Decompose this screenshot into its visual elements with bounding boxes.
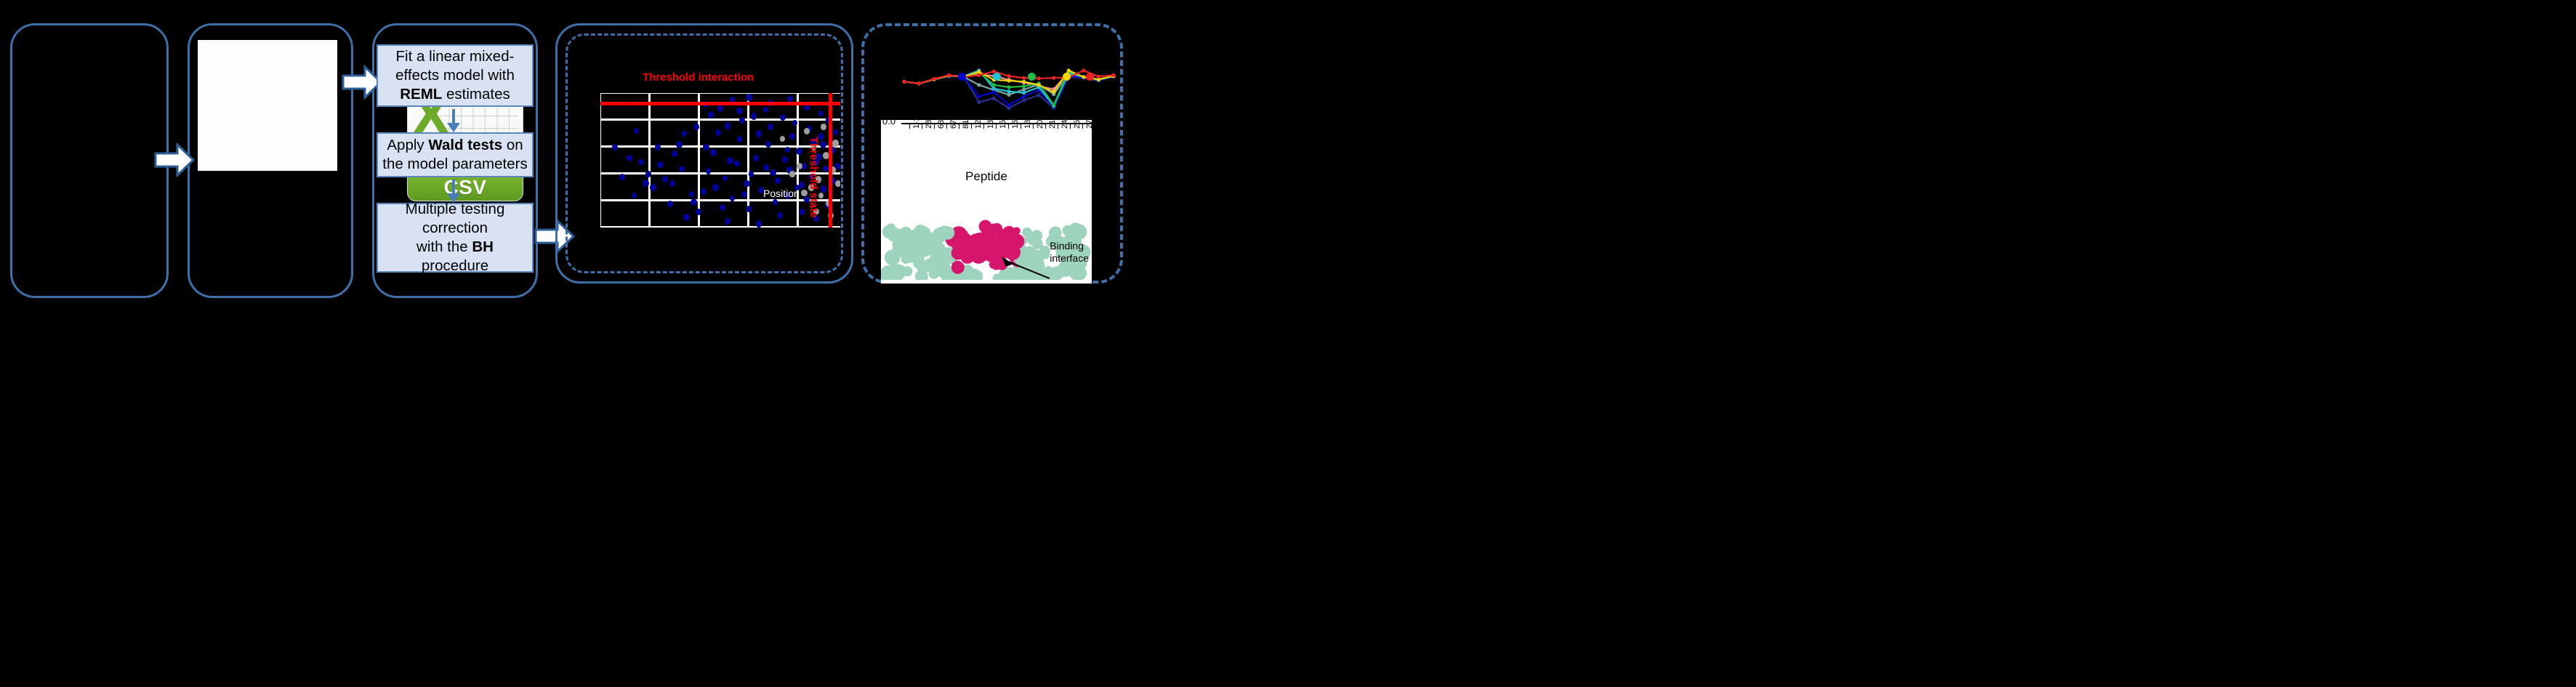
- receptor-surface-blob: [938, 262, 945, 269]
- flow-box-multiple-testing[interactable]: Multiple testing correction with the BH …: [377, 203, 534, 273]
- line-marker: [992, 90, 996, 94]
- peptide-surface-blob: [951, 246, 965, 260]
- receptor-surface-blob: [933, 228, 948, 243]
- binding-line2: interface: [1050, 252, 1089, 264]
- peptide-tick: [1033, 124, 1034, 129]
- line-marker: [917, 81, 921, 85]
- scatter-point: [632, 193, 637, 198]
- line-marker: [977, 100, 981, 104]
- peptide-axis-title: Peptide: [881, 169, 1092, 184]
- line-marker: [1022, 91, 1026, 95]
- legend-dot: [1063, 73, 1071, 81]
- line-marker: [1007, 89, 1010, 93]
- receptor-surface-blob: [1049, 226, 1062, 239]
- peptide-tick-label: 67-75: [949, 120, 958, 129]
- scatter-point: [627, 155, 632, 161]
- fb3-line3-pre: with the: [416, 238, 472, 255]
- peptide-surface-blob: [957, 233, 968, 244]
- scatter-point: [821, 185, 826, 192]
- arrow-box2-to-box3: [452, 180, 455, 194]
- receptor-surface-blob: [1022, 246, 1038, 262]
- scatter-point: [638, 159, 643, 165]
- scatter-point: [725, 218, 730, 225]
- peptide-tick: [922, 124, 922, 129]
- line-marker: [1082, 75, 1085, 79]
- scatter-point: [712, 184, 719, 191]
- line-marker: [1022, 84, 1026, 88]
- input-panel: [10, 23, 169, 298]
- peptide-tick: [1045, 124, 1046, 129]
- line-marker: [1037, 76, 1041, 80]
- line-marker: [1007, 93, 1010, 97]
- peptide-tick-label: 81-101: [962, 120, 970, 129]
- fb2-line2: the model parameters: [382, 156, 527, 172]
- scatter-point: [708, 111, 714, 118]
- line-marker: [1007, 106, 1010, 110]
- scatter-point: [744, 180, 750, 188]
- line-marker: [1022, 95, 1026, 98]
- scatter-plot: [600, 93, 840, 228]
- legend-dot: [958, 73, 966, 81]
- fb2-wald: Wald tests: [428, 137, 502, 153]
- scatter-point: [683, 214, 690, 221]
- scatter-point: [785, 147, 790, 153]
- threshold-interaction-line: [600, 102, 840, 105]
- scatter-point: [693, 124, 699, 130]
- scatter-point: [657, 161, 663, 168]
- scatter-point: [782, 156, 788, 163]
- threshold-interaction-label: Threshold interaction: [643, 71, 754, 84]
- scatter-point: [792, 120, 797, 126]
- scatter-point: [763, 164, 769, 171]
- scatter-point: [667, 201, 673, 207]
- scatter-point: [756, 130, 762, 137]
- line-marker: [1007, 74, 1010, 78]
- fb3-line3-post: procedure: [422, 257, 488, 274]
- protein-structure-image: [881, 193, 1092, 280]
- fb2-on: on: [502, 137, 523, 153]
- flow-box-wald-tests[interactable]: Apply Wald tests on the model parameters: [377, 132, 534, 177]
- line-marker: [1052, 76, 1055, 80]
- scatter-point: [736, 108, 742, 114]
- peptide-tick-label: 277-284: [1085, 120, 1092, 129]
- peptide-surface-blob: [1013, 227, 1021, 234]
- peptide-surface-blob: [951, 261, 965, 274]
- peptide-tick: [959, 124, 959, 129]
- fb1-reml: REML: [400, 86, 442, 103]
- line-marker: [1082, 68, 1085, 72]
- line-marker: [1007, 79, 1010, 82]
- scatter-point: [804, 128, 810, 134]
- line-marker: [947, 73, 951, 77]
- peptide-tick: [983, 124, 984, 129]
- receptor-surface-blob: [903, 266, 913, 276]
- arrow-input-to-csv: [154, 142, 195, 178]
- peptide-surface-blob: [1009, 234, 1024, 249]
- peptide-tick-label: 122-129: [974, 120, 983, 129]
- receptor-surface-blob: [1028, 236, 1037, 245]
- scatter-point: [650, 184, 656, 191]
- peptide-tick: [1008, 124, 1009, 129]
- peptide-tick-label: 167-180: [1011, 120, 1020, 129]
- line-marker: [1037, 83, 1041, 87]
- binding-line1: Binding: [1050, 240, 1084, 252]
- scatter-point: [823, 166, 828, 172]
- scatter-point: [835, 163, 840, 169]
- peptide-tick-label: 200-214: [1036, 120, 1045, 129]
- scatter-point: [821, 124, 826, 130]
- line-marker: [1007, 103, 1010, 107]
- scatter-point: [730, 196, 735, 201]
- peptide-tick: [1021, 124, 1021, 129]
- peptide-tick-label: 184-199: [1023, 120, 1032, 129]
- fb3-line1: Multiple testing: [406, 201, 505, 217]
- scatter-point: [619, 174, 625, 180]
- scatter-point: [801, 190, 807, 196]
- peptide-tick: [971, 124, 972, 129]
- scatter-point: [734, 161, 739, 166]
- line-marker: [1037, 93, 1041, 97]
- scatter-point: [787, 96, 793, 103]
- receptor-surface-blob: [1045, 266, 1052, 273]
- peptide-tick: [934, 124, 935, 129]
- peptide-tick-label: 135-144: [986, 120, 995, 129]
- line-marker: [1022, 98, 1026, 102]
- scatter-point: [701, 188, 707, 195]
- peptide-tick-label: 258-266: [1073, 120, 1082, 129]
- scatter-point: [799, 209, 804, 214]
- scatter-point: [725, 122, 731, 129]
- scatter-point: [751, 113, 757, 119]
- peptide-tick: [1070, 124, 1071, 129]
- line-marker: [1022, 76, 1026, 80]
- peptide-tick-label: 218-237: [1048, 120, 1057, 129]
- scatter-point: [756, 220, 762, 227]
- line-marker: [1052, 103, 1055, 107]
- scatter-point: [710, 149, 717, 156]
- peptide-surface-blob: [979, 220, 992, 233]
- line-marker: [1022, 88, 1026, 92]
- line-marker: [977, 83, 981, 87]
- legend-dot: [993, 73, 1001, 81]
- scatter-point: [754, 155, 760, 161]
- fb3-bh: BH: [472, 238, 494, 255]
- peptide-tick: [996, 124, 997, 129]
- peptide-tick-label: 241-257: [1060, 120, 1069, 129]
- fb1-line2: effects model with: [395, 67, 515, 84]
- line-marker: [902, 80, 906, 84]
- threshold-state-line: [829, 93, 832, 228]
- scatter-point: [789, 171, 794, 177]
- peptide-tick: [1082, 124, 1083, 129]
- line-marker: [1022, 80, 1026, 84]
- line-marker: [977, 70, 981, 73]
- scatter-point: [739, 117, 745, 124]
- fb1-line3-rest: estimates: [442, 86, 510, 103]
- peptide-tick-label: 158-166: [999, 120, 1007, 129]
- legend-dot: [1086, 73, 1094, 81]
- scatter-point: [703, 144, 709, 151]
- scatter-point: [741, 191, 747, 198]
- scatter-point: [727, 157, 733, 164]
- receptor-surface-blob: [975, 271, 983, 279]
- fb1-line1: Fit a linear mixed-: [396, 48, 515, 65]
- peptide-tick-label: 1-15: [912, 120, 921, 129]
- peptide-line-chart: [900, 60, 1118, 111]
- scatter-point: [746, 206, 752, 212]
- peptide-surface-blob: [981, 241, 996, 256]
- line-marker: [992, 97, 996, 100]
- line-marker: [1007, 85, 1010, 89]
- line-marker: [933, 77, 936, 81]
- peptide-tick-label: 28-44: [925, 120, 933, 129]
- scatter-point: [715, 129, 721, 136]
- peptide-tick: [909, 124, 910, 129]
- scatter-point: [746, 94, 752, 100]
- peptide-tick-label: 63-73: [937, 120, 946, 129]
- scatter-point: [835, 180, 840, 187]
- csv-file-icon: X CSV: [198, 40, 337, 171]
- scatter-point: [737, 136, 743, 142]
- peptide-tick: [946, 124, 947, 129]
- receptor-surface-blob: [898, 249, 906, 257]
- scatter-point: [679, 166, 685, 172]
- binding-interface-annotation: Binding interface: [1050, 240, 1089, 265]
- legend-dot: [1028, 73, 1036, 81]
- line-marker: [992, 87, 996, 90]
- scatter-point: [717, 105, 724, 112]
- receptor-surface-blob: [1071, 224, 1087, 240]
- receptor-surface-blob: [906, 235, 917, 246]
- line-marker: [977, 95, 981, 98]
- fb3-line2: correction: [422, 220, 488, 236]
- receptor-surface-blob: [882, 225, 896, 238]
- scatter-point: [612, 144, 618, 150]
- results-white-card: 0.0 1-1528-4463-7367-7581-101122-129135-…: [881, 120, 1092, 284]
- scatter-x-axis-label: Position: [763, 188, 800, 199]
- scatter-point: [645, 171, 651, 177]
- line-marker: [992, 83, 996, 87]
- fb2-apply: Apply: [387, 137, 428, 153]
- line-marker: [1097, 75, 1100, 79]
- line-marker: [1067, 68, 1071, 72]
- line-chart-svg: [900, 60, 1118, 111]
- arrow-box1-to-box2: [452, 109, 455, 124]
- scatter-point: [780, 114, 786, 121]
- line-marker: [1052, 90, 1055, 94]
- receptor-surface-blob: [905, 251, 917, 262]
- line-marker: [1111, 73, 1115, 77]
- scatter-point: [797, 163, 802, 169]
- peptide-tick: [1058, 124, 1058, 129]
- line-marker: [977, 73, 981, 77]
- scatter-point: [832, 140, 838, 146]
- threshold-state-label: Threshold state: [808, 137, 820, 218]
- receptor-surface-blob: [924, 262, 933, 271]
- y-axis-zero-label: 0.0: [882, 120, 895, 126]
- flow-box-fit-model[interactable]: Fit a linear mixed- effects model with R…: [377, 44, 534, 107]
